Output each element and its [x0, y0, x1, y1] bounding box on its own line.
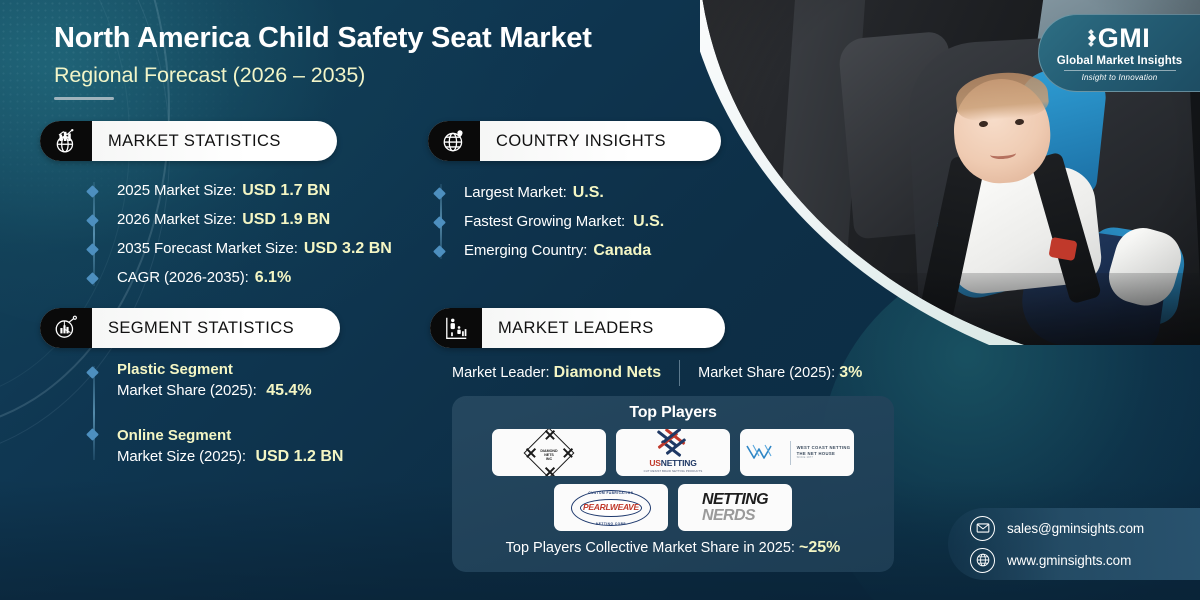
market-leaders-header: MARKET LEADERS	[430, 308, 725, 348]
insight-value: U.S.	[633, 213, 664, 231]
market-share-label: Market Share (2025):	[698, 365, 835, 381]
west-coast-netting-logo-icon: WEST COAST NETTING THE NET HOUSE SINCE 1…	[744, 441, 851, 465]
logo-text-word: PEARLWEAVE	[568, 502, 654, 512]
market-leader-cell: Market Leader: Diamond Nets	[452, 364, 661, 382]
gmi-divider	[1064, 70, 1176, 71]
segment-statistics-label: SEGMENT STATISTICS	[92, 319, 294, 338]
stat-label: 2026 Market Size:	[117, 211, 236, 228]
top-players-title: Top Players	[452, 404, 894, 422]
stat-label: CAGR (2026-2035):	[117, 269, 249, 286]
gmi-tagline: Insight to Innovation	[1082, 73, 1158, 82]
insight-label: Fastest Growing Market:	[464, 213, 625, 230]
collective-share-label: Top Players Collective Market Share in 2…	[506, 540, 795, 556]
country-insights-label: COUNTRY INSIGHTS	[480, 132, 666, 151]
logo-card-us-netting[interactable]: USNETTING CUT RESIST BRAID NETTING PRODU…	[616, 429, 730, 476]
logo-text-line-2: NETS	[544, 453, 554, 457]
top-players-logo-row-2: CUSTOM FABRICATION PEARLWEAVE NETTING CO…	[452, 484, 894, 531]
market-statistics-label: MARKET STATISTICS	[92, 132, 281, 151]
logo-text-line-2: NERDS	[702, 508, 768, 524]
divider	[679, 360, 680, 386]
segment-statistics-header: SEGMENT STATISTICS	[40, 308, 340, 348]
list-item: 2025 Market Size: USD 1.7 BN	[93, 176, 392, 205]
top-players-logo-row-1: DIAMOND NETS INC USNETTING	[452, 429, 894, 476]
segment-metric-label: Market Share (2025):	[117, 382, 257, 399]
logo-text-line-1: WEST COAST NETTING	[797, 445, 851, 450]
diamond-icon	[1089, 30, 1095, 46]
list-item: Emerging Country: Canada	[440, 236, 664, 265]
contact-block: sales@gminsights.com www.gminsights.com	[948, 508, 1200, 580]
logo-card-west-coast-netting[interactable]: WEST COAST NETTING THE NET HOUSE SINCE 1…	[740, 429, 854, 476]
insight-value: Canada	[593, 242, 651, 260]
logo-text-line-1: NETTING	[702, 492, 768, 508]
market-statistics-header: MARKET STATISTICS	[40, 121, 337, 161]
market-share-value: 3%	[839, 364, 862, 381]
logo-text-line-3: INC	[546, 457, 552, 461]
insight-label: Emerging Country:	[464, 242, 587, 259]
podium-chart-icon	[430, 308, 482, 348]
contact-email: sales@gminsights.com	[1007, 521, 1144, 536]
collective-share-value: ~25%	[799, 539, 840, 556]
logo-card-netting-nerds[interactable]: NETTING NERDS	[678, 484, 792, 531]
segment-name: Plastic Segment	[117, 361, 343, 378]
stat-value: 6.1%	[255, 269, 291, 287]
contact-email-row[interactable]: sales@gminsights.com	[970, 516, 1200, 541]
envelope-icon	[970, 516, 995, 541]
country-insights-header: COUNTRY INSIGHTS	[428, 121, 721, 161]
gmi-full-name: Global Market Insights	[1057, 55, 1183, 67]
logo-text-line-1: DIAMOND	[540, 449, 557, 453]
list-item: Largest Market: U.S.	[440, 178, 664, 207]
list-item: Online Segment Market Size (2025): USD 1…	[93, 403, 343, 466]
list-item: Fastest Growing Market: U.S.	[440, 207, 664, 236]
market-leader-label: Market Leader:	[452, 365, 550, 381]
gmi-logo: GMI Global Market Insights Insight to In…	[1038, 14, 1200, 92]
title-underline	[54, 97, 114, 100]
market-share-cell: Market Share (2025): 3%	[698, 364, 862, 382]
stat-label: 2035 Forecast Market Size:	[117, 240, 298, 257]
segment-metric: Market Size (2025): USD 1.2 BN	[117, 448, 343, 466]
contact-website-row[interactable]: www.gminsights.com	[970, 548, 1200, 573]
stat-value: USD 1.7 BN	[242, 182, 330, 200]
diamond-nets-logo-icon: DIAMOND NETS INC	[526, 433, 572, 473]
market-statistics-list: 2025 Market Size: USD 1.7 BN 2026 Market…	[93, 176, 392, 292]
logo-text-line-3: SINCE 1977	[797, 456, 851, 459]
segment-metric-value: USD 1.2 BN	[255, 448, 343, 465]
gmi-logo-mark-row: GMI	[1089, 25, 1151, 52]
logo-text-tagline: CUT RESIST BRAID NETTING PRODUCTS	[644, 469, 703, 473]
insight-value: U.S.	[573, 184, 604, 202]
top-players-collective-share: Top Players Collective Market Share in 2…	[452, 539, 894, 557]
segment-statistics-list: Plastic Segment Market Share (2025): 45.…	[93, 360, 343, 466]
list-item: Plastic Segment Market Share (2025): 45.…	[93, 360, 343, 403]
us-netting-logo-icon: USNETTING CUT RESIST BRAID NETTING PRODU…	[644, 433, 703, 473]
contact-website: www.gminsights.com	[1007, 553, 1131, 568]
logo-text-secondary: NETTING	[661, 458, 697, 468]
list-item: CAGR (2026-2035): 6.1%	[93, 263, 392, 292]
country-insights-list: Largest Market: U.S. Fastest Growing Mar…	[440, 178, 664, 265]
market-leader-row: Market Leader: Diamond Nets Market Share…	[452, 360, 862, 386]
page-subtitle: Regional Forecast (2026 – 2035)	[54, 63, 592, 88]
logo-card-diamond-nets[interactable]: DIAMOND NETS INC	[492, 429, 606, 476]
gmi-wordmark: GMI	[1098, 25, 1151, 52]
segment-name: Online Segment	[117, 427, 343, 444]
globe-pin-icon	[428, 121, 480, 161]
logo-text-top-arc: CUSTOM FABRICATION	[568, 491, 654, 495]
market-leader-value: Diamond Nets	[554, 364, 662, 381]
pearlweave-logo-icon: CUSTOM FABRICATION PEARLWEAVE NETTING CO…	[568, 487, 654, 529]
segment-metric-value: 45.4%	[266, 382, 311, 399]
stat-value: USD 1.9 BN	[242, 211, 330, 229]
top-players-panel: Top Players DIAMOND NETS INC	[452, 396, 894, 572]
pie-chart-gear-icon	[40, 308, 92, 348]
list-item: 2026 Market Size: USD 1.9 BN	[93, 205, 392, 234]
segment-metric: Market Share (2025): 45.4%	[117, 382, 343, 400]
globe-icon	[970, 548, 995, 573]
title-block: North America Child Safety Seat Market R…	[54, 22, 592, 100]
list-item: 2035 Forecast Market Size: USD 3.2 BN	[93, 234, 392, 263]
market-leaders-label: MARKET LEADERS	[482, 319, 654, 338]
logo-card-pearlweave[interactable]: CUSTOM FABRICATION PEARLWEAVE NETTING CO…	[554, 484, 668, 531]
insight-label: Largest Market:	[464, 184, 567, 201]
segment-metric-label: Market Size (2025):	[117, 448, 246, 465]
netting-nerds-logo-icon: NETTING NERDS	[702, 492, 768, 523]
stat-value: USD 3.2 BN	[304, 240, 392, 258]
stat-label: 2025 Market Size:	[117, 182, 236, 199]
logo-text-primary: US	[649, 458, 660, 468]
globe-bar-chart-icon	[40, 121, 92, 161]
logo-text-bottom-arc: NETTING CORP	[568, 522, 654, 526]
page-title: North America Child Safety Seat Market	[54, 22, 592, 55]
